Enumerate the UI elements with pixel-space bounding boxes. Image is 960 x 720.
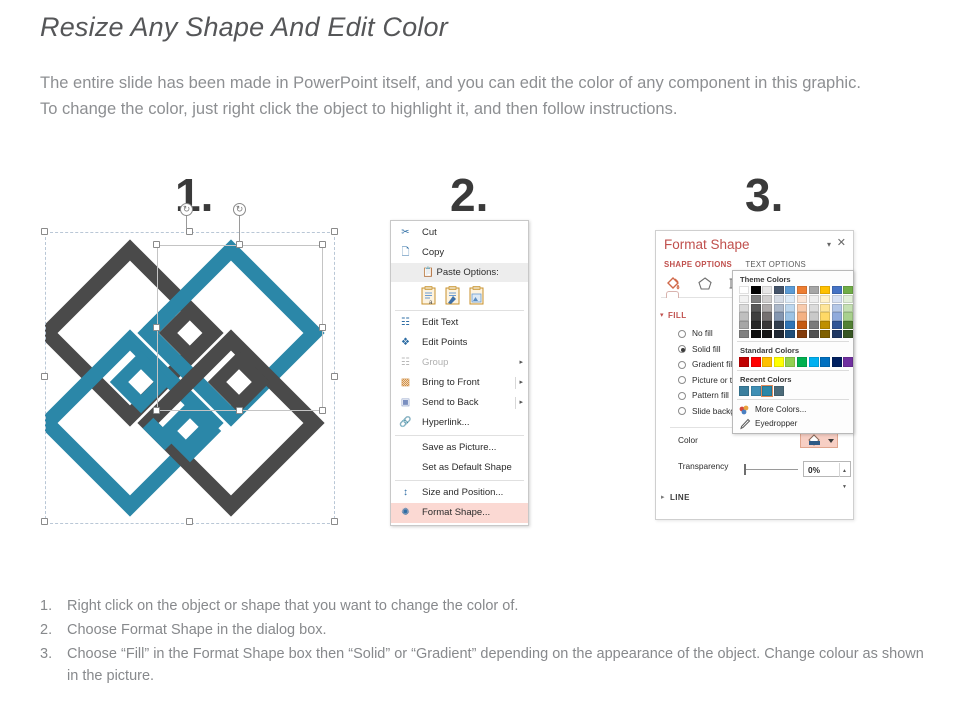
theme-swatch-2-1[interactable] xyxy=(751,304,761,312)
theme-swatch-0-1[interactable] xyxy=(751,286,761,294)
scissors-icon: ✂ xyxy=(398,226,413,240)
theme-swatch-5-2[interactable] xyxy=(762,330,772,338)
theme-swatch-1-9[interactable] xyxy=(843,295,853,303)
theme-swatch-0-4[interactable] xyxy=(785,286,795,294)
radio-label: Pattern fill xyxy=(692,390,729,400)
inner-handle-e[interactable] xyxy=(319,324,326,331)
standard-swatch-4[interactable] xyxy=(785,357,795,367)
theme-swatch-0-7[interactable] xyxy=(820,286,830,294)
chevron-down-icon[interactable]: ▾ xyxy=(827,240,831,249)
theme-swatch-2-6[interactable] xyxy=(809,304,819,312)
theme-swatch-3-4[interactable] xyxy=(785,312,795,320)
radio-label: Gradient fill xyxy=(692,359,734,369)
theme-swatch-4-3[interactable] xyxy=(774,321,784,329)
tab-shape-options[interactable]: SHAPE OPTIONS xyxy=(664,260,732,269)
theme-swatch-3-5[interactable] xyxy=(797,312,807,320)
theme-swatch-3-1[interactable] xyxy=(751,312,761,320)
active-tab-marker xyxy=(666,291,679,298)
picker-divider xyxy=(737,370,849,371)
resize-handle-nw[interactable] xyxy=(41,228,48,235)
theme-swatch-1-8[interactable] xyxy=(832,295,842,303)
theme-swatch-5-8[interactable] xyxy=(832,330,842,338)
standard-swatch-0[interactable] xyxy=(739,357,749,367)
color-picker-flyout[interactable]: Theme Colors Standard Colors Recent Colo… xyxy=(732,270,854,434)
menu-item-label: Send to Back xyxy=(422,397,479,408)
theme-swatch-4-8[interactable] xyxy=(832,321,842,329)
instruction-text: Right click on the object or shape that … xyxy=(67,595,930,617)
transparency-slider-knob[interactable] xyxy=(744,464,746,475)
instructions-list: 1. Right click on the object or shape th… xyxy=(40,595,930,689)
theme-swatch-0-9[interactable] xyxy=(843,286,853,294)
group-icon: ☷ xyxy=(398,356,413,370)
theme-swatch-3-8[interactable] xyxy=(832,312,842,320)
menu-item-label: Edit Text xyxy=(422,317,458,328)
selection-inner-box xyxy=(157,245,323,411)
recent-swatch-3[interactable] xyxy=(774,386,784,396)
theme-swatch-5-7[interactable] xyxy=(820,330,830,338)
pane-tabs[interactable]: SHAPE OPTIONS TEXT OPTIONS xyxy=(664,260,817,269)
theme-swatch-0-5[interactable] xyxy=(797,286,807,294)
theme-swatch-2-2[interactable] xyxy=(762,304,772,312)
menu-item-group: ☷ Group ▸ xyxy=(391,353,528,373)
fill-section-header: FILL xyxy=(668,311,686,320)
recent-swatch-1[interactable] xyxy=(751,386,761,396)
menu-item-edit-points[interactable]: ❖ Edit Points xyxy=(391,333,528,353)
theme-swatch-5-9[interactable] xyxy=(843,330,853,338)
menu-item-cut[interactable]: ✂ Cut xyxy=(391,223,528,243)
menu-item-label: Paste Options: xyxy=(436,267,498,278)
theme-swatch-1-4[interactable] xyxy=(785,295,795,303)
more-colors-item[interactable]: More Colors... xyxy=(733,403,853,417)
menu-item-size-and-position[interactable]: ↕ Size and Position... xyxy=(391,483,528,503)
menu-item-label: Bring to Front xyxy=(422,377,480,388)
radio-icon xyxy=(678,392,686,400)
theme-swatch-4-4[interactable] xyxy=(785,321,795,329)
bring-front-icon: ▩ xyxy=(398,376,413,390)
picker-divider xyxy=(737,399,849,400)
paste-use-theme-icon[interactable] xyxy=(444,286,461,305)
inner-handle-sw[interactable] xyxy=(153,407,160,414)
menu-item-set-default-shape[interactable]: Set as Default Shape xyxy=(391,458,528,478)
resize-handle-ne[interactable] xyxy=(331,228,338,235)
more-colors-icon xyxy=(738,404,751,416)
format-shape-icon: ✺ xyxy=(398,506,413,520)
standard-swatch-3[interactable] xyxy=(774,357,784,367)
theme-colors-header: Theme Colors xyxy=(733,274,853,286)
recent-swatch-2[interactable] xyxy=(762,386,772,396)
instruction-number: 3. xyxy=(40,643,67,687)
recent-swatch-0[interactable] xyxy=(739,386,749,396)
menu-item-label: Format Shape... xyxy=(422,507,490,518)
menu-item-paste-options: 📋 Paste Options: xyxy=(391,263,528,282)
menu-item-save-as-picture[interactable]: Save as Picture... xyxy=(391,438,528,458)
theme-swatch-1-3[interactable] xyxy=(774,295,784,303)
menu-divider xyxy=(515,377,516,389)
transparency-value: 0% xyxy=(808,465,820,475)
inner-handle-s[interactable] xyxy=(236,407,243,414)
hyperlink-icon: 🔗 xyxy=(398,416,413,430)
rotate-handle-inner[interactable]: ↻ xyxy=(233,203,246,216)
paste-options-row[interactable]: a xyxy=(391,282,528,308)
theme-swatch-3-2[interactable] xyxy=(762,312,772,320)
theme-swatch-3-6[interactable] xyxy=(809,312,819,320)
theme-swatch-2-0[interactable] xyxy=(739,304,749,312)
menu-separator xyxy=(395,480,524,481)
inner-handle-se[interactable] xyxy=(319,407,326,414)
menu-divider xyxy=(515,397,516,409)
inner-handle-w[interactable] xyxy=(153,324,160,331)
radio-label: No fill xyxy=(692,328,713,338)
eyedropper-item[interactable]: Eyedropper xyxy=(733,417,853,431)
resize-handle-sw[interactable] xyxy=(41,518,48,525)
theme-swatch-1-5[interactable] xyxy=(797,295,807,303)
standard-swatch-6[interactable] xyxy=(809,357,819,367)
theme-swatch-4-6[interactable] xyxy=(809,321,819,329)
send-back-icon: ▣ xyxy=(398,396,413,410)
radio-label: Solid fill xyxy=(692,344,721,354)
line-section-header: LINE xyxy=(670,493,690,502)
transparency-label: Transparency xyxy=(678,461,728,471)
theme-swatch-1-1[interactable] xyxy=(751,295,761,303)
menu-item-label: Save as Picture... xyxy=(422,442,496,453)
theme-swatch-3-3[interactable] xyxy=(774,312,784,320)
radio-icon xyxy=(678,407,686,415)
line-expand-icon[interactable]: ▸ xyxy=(661,493,665,501)
theme-swatch-4-0[interactable] xyxy=(739,321,749,329)
standard-colors-grid[interactable] xyxy=(733,357,853,367)
theme-swatch-2-8[interactable] xyxy=(832,304,842,312)
theme-swatch-0-3[interactable] xyxy=(774,286,784,294)
step-number-3: 3. xyxy=(745,172,783,218)
theme-swatch-3-7[interactable] xyxy=(820,312,830,320)
picker-divider xyxy=(737,341,849,342)
effects-pentagon-icon[interactable] xyxy=(696,275,714,292)
standard-swatch-2[interactable] xyxy=(762,357,772,367)
edit-points-icon: ❖ xyxy=(398,336,413,350)
recent-colors-header: Recent Colors xyxy=(733,374,853,386)
shape-illustration[interactable]: ↻ ↻ xyxy=(45,232,335,524)
instruction-text: Choose “Fill” in the Format Shape box th… xyxy=(67,643,930,687)
menu-item-send-to-back[interactable]: ▣ Send to Back ▸ xyxy=(391,393,528,413)
standard-swatch-7[interactable] xyxy=(820,357,830,367)
menu-item-label: Cut xyxy=(422,227,437,238)
theme-swatch-0-8[interactable] xyxy=(832,286,842,294)
eyedropper-label: Eyedropper xyxy=(755,419,797,428)
resize-handle-s[interactable] xyxy=(186,518,193,525)
theme-swatch-5-3[interactable] xyxy=(774,330,784,338)
fill-bucket-icon[interactable] xyxy=(664,275,682,292)
standard-swatch-9[interactable] xyxy=(843,357,853,367)
theme-swatch-2-5[interactable] xyxy=(797,304,807,312)
menu-item-label: Edit Points xyxy=(422,337,467,348)
resize-handle-se[interactable] xyxy=(331,518,338,525)
paste-keep-source-icon[interactable]: a xyxy=(420,286,437,305)
theme-colors-grid[interactable] xyxy=(733,286,853,338)
chevron-right-icon: ▸ xyxy=(519,393,523,413)
more-colors-label: More Colors... xyxy=(755,405,806,414)
page-subtitle: The entire slide has been made in PowerP… xyxy=(40,70,870,122)
theme-swatch-0-0[interactable] xyxy=(739,286,749,294)
page-title: Resize Any Shape And Edit Color xyxy=(40,12,448,43)
edit-text-icon: ☷ xyxy=(398,316,413,330)
theme-swatch-4-2[interactable] xyxy=(762,321,772,329)
instruction-text: Choose Format Shape in the dialog box. xyxy=(67,619,930,641)
spinner-icon[interactable]: ▲▼ xyxy=(839,463,849,477)
theme-swatch-5-5[interactable] xyxy=(797,330,807,338)
instruction-row: 3. Choose “Fill” in the Format Shape box… xyxy=(40,643,930,687)
chevron-right-icon: ▸ xyxy=(519,353,523,373)
inner-handle-n[interactable] xyxy=(236,241,243,248)
instruction-number: 2. xyxy=(40,619,67,641)
menu-item-bring-to-front[interactable]: ▩ Bring to Front ▸ xyxy=(391,373,528,393)
theme-swatch-4-5[interactable] xyxy=(797,321,807,329)
resize-handle-w[interactable] xyxy=(41,373,48,380)
menu-item-copy[interactable]: 🗋 Copy xyxy=(391,243,528,263)
color-label: Color xyxy=(678,435,698,445)
theme-swatch-3-9[interactable] xyxy=(843,312,853,320)
theme-swatch-0-2[interactable] xyxy=(762,286,772,294)
theme-swatch-5-0[interactable] xyxy=(739,330,749,338)
theme-swatch-2-4[interactable] xyxy=(785,304,795,312)
theme-swatch-4-7[interactable] xyxy=(820,321,830,329)
theme-swatch-2-9[interactable] xyxy=(843,304,853,312)
instruction-number: 1. xyxy=(40,595,67,617)
theme-swatch-5-1[interactable] xyxy=(751,330,761,338)
theme-swatch-2-7[interactable] xyxy=(820,304,830,312)
menu-separator xyxy=(395,310,524,311)
paste-picture-icon[interactable] xyxy=(468,286,485,305)
standard-swatch-5[interactable] xyxy=(797,357,807,367)
standard-swatch-1[interactable] xyxy=(751,357,761,367)
eyedropper-icon xyxy=(738,418,751,430)
copy-icon: 🗋 xyxy=(398,246,413,260)
step-number-2: 2. xyxy=(450,172,488,218)
close-icon[interactable]: ✕ xyxy=(837,236,846,249)
radio-icon xyxy=(678,376,686,384)
rotate-handle-outer[interactable]: ↻ xyxy=(180,203,193,216)
menu-item-label: Set as Default Shape xyxy=(422,462,512,473)
menu-separator xyxy=(395,435,524,436)
theme-swatch-1-6[interactable] xyxy=(809,295,819,303)
menu-item-label: Copy xyxy=(422,247,444,258)
instruction-row: 2. Choose Format Shape in the dialog box… xyxy=(40,619,930,641)
theme-swatch-1-2[interactable] xyxy=(762,295,772,303)
instruction-row: 1. Right click on the object or shape th… xyxy=(40,595,930,617)
slide-canvas: Resize Any Shape And Edit Color The enti… xyxy=(0,0,960,720)
menu-item-label: Group xyxy=(422,357,448,368)
chevron-right-icon: ▸ xyxy=(519,373,523,393)
standard-swatch-8[interactable] xyxy=(832,357,842,367)
theme-swatch-1-0[interactable] xyxy=(739,295,749,303)
rotate-stem-outer xyxy=(186,216,187,229)
theme-swatch-0-6[interactable] xyxy=(809,286,819,294)
theme-swatch-4-1[interactable] xyxy=(751,321,761,329)
transparency-slider-track[interactable] xyxy=(746,469,798,470)
theme-swatch-5-4[interactable] xyxy=(785,330,795,338)
inner-handle-ne[interactable] xyxy=(319,241,326,248)
radio-icon xyxy=(678,330,686,338)
radio-icon-selected xyxy=(678,345,686,353)
context-menu[interactable]: ✂ Cut 🗋 Copy 📋 Paste Options: a ☷ Edit xyxy=(390,220,529,526)
tab-text-options[interactable]: TEXT OPTIONS xyxy=(745,260,806,269)
theme-swatch-2-3[interactable] xyxy=(774,304,784,312)
size-position-icon: ↕ xyxy=(398,486,413,500)
menu-item-edit-text[interactable]: ☷ Edit Text xyxy=(391,313,528,333)
radio-icon xyxy=(678,361,686,369)
transparency-value-field[interactable]: 0% ▲▼ xyxy=(803,461,851,477)
fill-collapse-icon[interactable]: ▾ xyxy=(660,311,664,319)
pane-title: Format Shape xyxy=(664,237,750,252)
theme-swatch-3-0[interactable] xyxy=(739,312,749,320)
paste-icon: 📋 xyxy=(422,267,434,278)
resize-handle-n[interactable] xyxy=(186,228,193,235)
theme-swatch-1-7[interactable] xyxy=(820,295,830,303)
rotate-stem-inner xyxy=(239,216,240,242)
menu-item-label: Hyperlink... xyxy=(422,417,470,428)
resize-handle-e[interactable] xyxy=(331,373,338,380)
theme-swatch-4-9[interactable] xyxy=(843,321,853,329)
theme-swatch-5-6[interactable] xyxy=(809,330,819,338)
menu-item-format-shape[interactable]: ✺ Format Shape... xyxy=(391,503,528,523)
standard-colors-header: Standard Colors xyxy=(733,345,853,357)
inner-handle-nw[interactable] xyxy=(153,241,160,248)
recent-colors-row[interactable] xyxy=(733,386,853,396)
menu-item-hyperlink[interactable]: 🔗 Hyperlink... xyxy=(391,413,528,433)
menu-item-label: Size and Position... xyxy=(422,487,503,498)
